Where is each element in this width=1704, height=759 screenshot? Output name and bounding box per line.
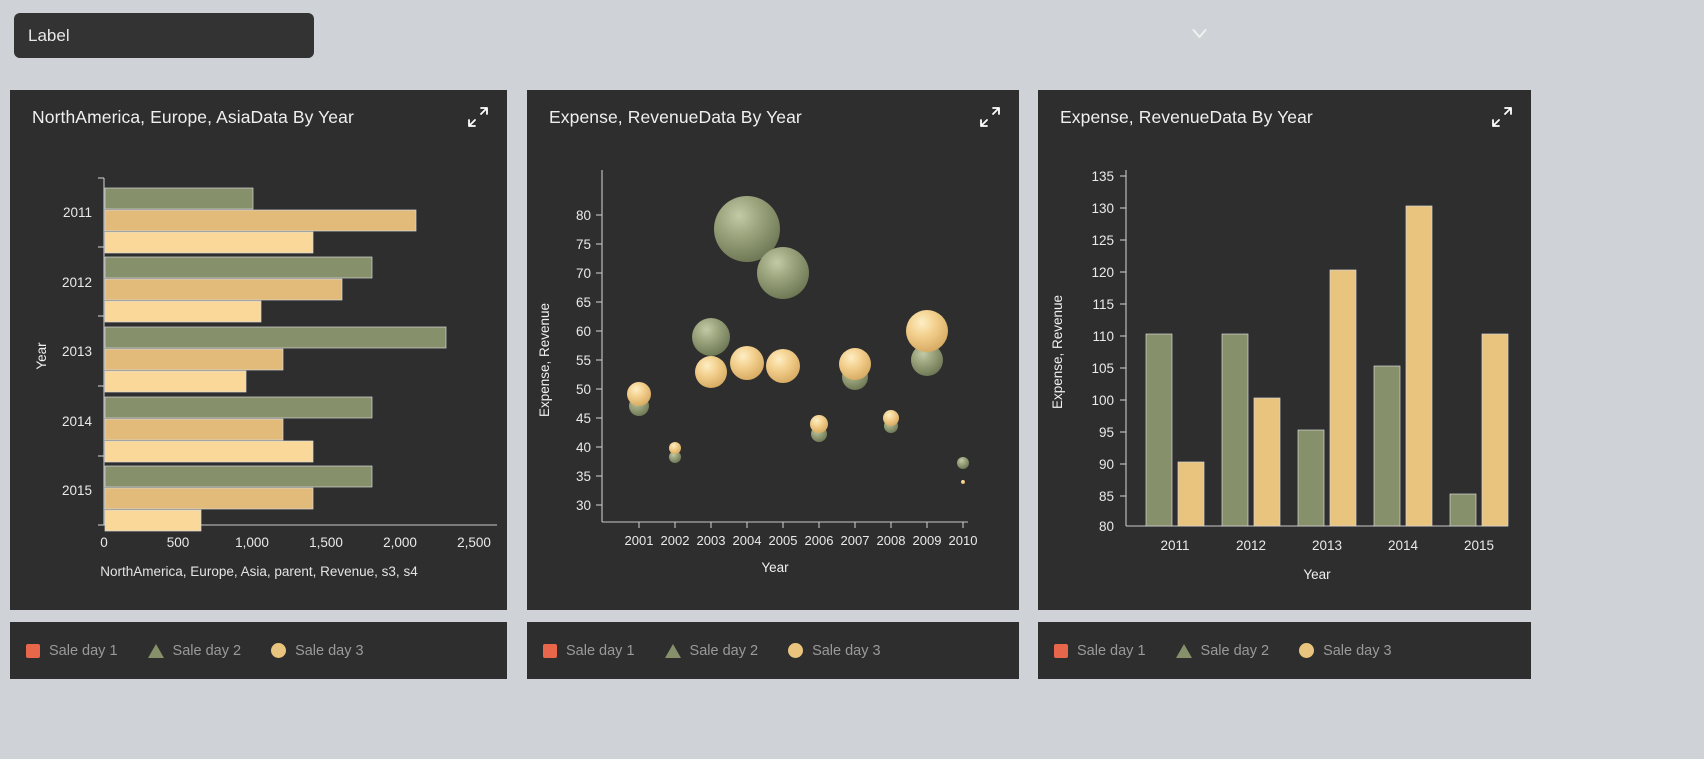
svg-text:0: 0 xyxy=(100,535,108,550)
svg-text:2007: 2007 xyxy=(841,533,870,548)
circle-marker-icon xyxy=(1299,643,1314,658)
chart-panel-2: Expense, RevenueData By Year xyxy=(527,90,1019,610)
svg-text:120: 120 xyxy=(1091,265,1114,280)
bar-group-2012 xyxy=(1222,334,1280,526)
svg-text:1,000: 1,000 xyxy=(235,535,269,550)
triangle-marker-icon xyxy=(665,644,681,658)
bar-group-2011 xyxy=(105,188,416,253)
svg-text:125: 125 xyxy=(1091,233,1114,248)
svg-text:2001: 2001 xyxy=(625,533,654,548)
legend-item-sale-day-1[interactable]: Sale day 1 xyxy=(26,643,118,659)
year-select-wrapper[interactable]: 200520062007200820092010 xyxy=(933,13,1219,56)
legend-item-sale-day-1[interactable]: Sale day 1 xyxy=(1054,643,1146,659)
square-marker-icon xyxy=(543,644,557,658)
svg-text:Year: Year xyxy=(1303,567,1331,582)
legend-panel-1: Sale day 1 Sale day 2 Sale day 3 xyxy=(10,622,507,679)
svg-text:NorthAmerica, Europe, Asia, pa: NorthAmerica, Europe, Asia, parent, Reve… xyxy=(100,564,418,579)
svg-text:70: 70 xyxy=(576,266,591,281)
svg-text:2,000: 2,000 xyxy=(383,535,417,550)
triangle-marker-icon xyxy=(148,644,164,658)
svg-text:2003: 2003 xyxy=(697,533,726,548)
svg-text:130: 130 xyxy=(1091,201,1114,216)
bar-group-2012 xyxy=(105,257,372,322)
svg-text:115: 115 xyxy=(1092,297,1114,312)
svg-text:2005: 2005 xyxy=(769,533,798,548)
bar-group-2013 xyxy=(105,327,446,392)
svg-text:2006: 2006 xyxy=(805,533,834,548)
svg-text:2014: 2014 xyxy=(1388,538,1419,553)
circle-marker-icon xyxy=(271,643,286,658)
legend-item-sale-day-2[interactable]: Sale day 2 xyxy=(665,643,759,659)
bar-group-2015 xyxy=(105,466,372,531)
svg-text:135: 135 xyxy=(1091,169,1114,184)
square-marker-icon xyxy=(1054,644,1068,658)
svg-text:55: 55 xyxy=(576,353,591,368)
legend-label: Sale day 3 xyxy=(295,643,364,659)
svg-text:80: 80 xyxy=(576,208,591,223)
svg-text:Expense, Revenue: Expense, Revenue xyxy=(537,303,552,417)
legend-item-sale-day-2[interactable]: Sale day 2 xyxy=(1176,643,1270,659)
svg-text:85: 85 xyxy=(1099,489,1114,504)
bubble-chart: 80 75 70 65 60 55 50 45 40 35 30 Expense… xyxy=(527,90,1019,610)
legend-label: Sale day 1 xyxy=(1077,643,1146,659)
bar-group-2014 xyxy=(105,397,372,462)
legend-item-sale-day-3[interactable]: Sale day 3 xyxy=(1299,643,1392,659)
svg-text:95: 95 xyxy=(1099,425,1114,440)
svg-text:60: 60 xyxy=(576,324,591,339)
legend-label: Sale day 3 xyxy=(812,643,881,659)
svg-text:100: 100 xyxy=(1091,393,1114,408)
chevron-down-icon xyxy=(1192,28,1207,40)
svg-text:Year: Year xyxy=(34,342,49,370)
svg-text:105: 105 xyxy=(1091,361,1114,376)
vertical-bar-chart: 135 130 125 120 115 110 105 100 95 90 85… xyxy=(1038,90,1531,610)
legend-label: Sale day 2 xyxy=(1201,643,1270,659)
legend-label: Sale day 2 xyxy=(173,643,242,659)
svg-text:2013: 2013 xyxy=(1312,538,1342,553)
chart-panel-1: NorthAmerica, Europe, AsiaData By Year 2… xyxy=(10,90,507,610)
svg-text:2002: 2002 xyxy=(661,533,690,548)
chart-panel-3: Expense, RevenueData By Year xyxy=(1038,90,1531,610)
svg-text:35: 35 xyxy=(576,469,591,484)
bar-group-2015 xyxy=(1450,334,1508,526)
circle-marker-icon xyxy=(788,643,803,658)
dashboard-root: 200520062007200820092010 NorthAmerica, E… xyxy=(0,0,1704,759)
legend-label: Sale day 3 xyxy=(1323,643,1392,659)
svg-text:500: 500 xyxy=(167,535,190,550)
svg-text:80: 80 xyxy=(1099,519,1114,534)
bar-group-2014 xyxy=(1374,206,1432,526)
svg-text:1,500: 1,500 xyxy=(309,535,343,550)
svg-text:2010: 2010 xyxy=(949,533,978,548)
svg-text:2011: 2011 xyxy=(1160,538,1189,553)
svg-text:Expense, Revenue: Expense, Revenue xyxy=(1050,295,1065,409)
svg-text:2,500: 2,500 xyxy=(457,535,491,550)
svg-text:2015: 2015 xyxy=(1464,538,1494,553)
legend-item-sale-day-2[interactable]: Sale day 2 xyxy=(148,643,242,659)
svg-text:45: 45 xyxy=(576,411,591,426)
svg-text:40: 40 xyxy=(576,440,591,455)
square-marker-icon xyxy=(26,644,40,658)
svg-text:2004: 2004 xyxy=(733,533,762,548)
legend-item-sale-day-3[interactable]: Sale day 3 xyxy=(271,643,364,659)
svg-text:2009: 2009 xyxy=(913,533,942,548)
bar-group-2011 xyxy=(1146,334,1204,526)
svg-text:Year: Year xyxy=(761,560,789,575)
legend-item-sale-day-3[interactable]: Sale day 3 xyxy=(788,643,881,659)
svg-text:90: 90 xyxy=(1099,457,1114,472)
svg-text:2012: 2012 xyxy=(62,275,92,290)
svg-text:75: 75 xyxy=(576,237,591,252)
legend-label: Sale day 2 xyxy=(690,643,759,659)
svg-text:30: 30 xyxy=(576,498,591,513)
bar-group-2013 xyxy=(1298,270,1356,526)
legend-label: Sale day 1 xyxy=(566,643,635,659)
svg-text:2013: 2013 xyxy=(62,344,92,359)
svg-text:2015: 2015 xyxy=(62,483,92,498)
svg-text:2011: 2011 xyxy=(63,205,92,220)
svg-text:2008: 2008 xyxy=(877,533,906,548)
horizontal-bar-chart: 2011 2012 2013 2014 2015 Year xyxy=(10,90,507,610)
svg-text:2012: 2012 xyxy=(1236,538,1266,553)
legend-panel-3: Sale day 1 Sale day 2 Sale day 3 xyxy=(1038,622,1531,679)
svg-text:110: 110 xyxy=(1092,329,1114,344)
triangle-marker-icon xyxy=(1176,644,1192,658)
legend-panel-2: Sale day 1 Sale day 2 Sale day 3 xyxy=(527,622,1019,679)
svg-text:50: 50 xyxy=(576,382,591,397)
label-input[interactable] xyxy=(14,13,314,58)
svg-text:2014: 2014 xyxy=(62,414,93,429)
svg-text:65: 65 xyxy=(576,295,591,310)
legend-item-sale-day-1[interactable]: Sale day 1 xyxy=(543,643,635,659)
toolbar: 200520062007200820092010 xyxy=(0,0,1704,74)
legend-label: Sale day 1 xyxy=(49,643,118,659)
